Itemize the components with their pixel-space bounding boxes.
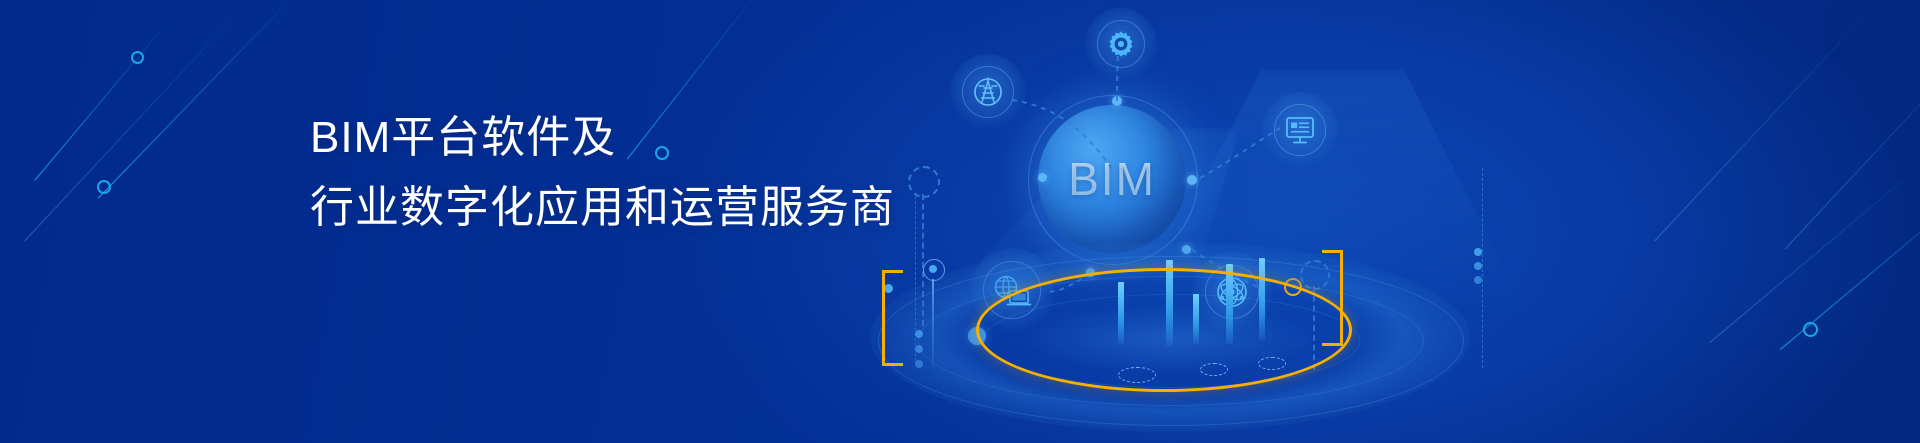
icon-bubble-gear[interactable] [1085,8,1157,80]
decor-diagonal-line-3 [24,0,250,241]
icon-bubble-power-tower[interactable] [950,54,1026,130]
bim-illustration: BIM [860,0,1920,443]
icon-bubble-monitor[interactable] [1262,92,1338,168]
sphere-node-upper-left [1038,173,1047,182]
radar-base [860,232,1480,442]
decor-circle-2 [97,180,111,194]
decor-circle-1 [131,51,144,64]
headline-line-1: BIM平台软件及 [310,116,895,160]
radar-dashed-marker [1200,363,1228,376]
vertical-dashed-guide-right [1482,168,1483,368]
hero-headline: BIM平台软件及 行业数字化应用和运营服务商 [310,116,895,230]
headline-line-2: 行业数字化应用和运营服务商 [310,186,895,230]
radar-dashed-marker [1118,367,1156,383]
bim-hero-banner: BIM平台软件及 行业数字化应用和运营服务商 BIM [0,0,1920,443]
radar-yellow-ring [976,268,1352,392]
radar-dashed-marker [1258,357,1286,370]
sphere-node-top [1112,96,1122,106]
monitor-icon [1282,113,1318,147]
gear-icon [1105,28,1137,60]
sphere-node-right [1187,175,1197,185]
bracket-right [1322,250,1343,346]
dashed-marker-left [908,166,940,198]
power-tower-icon [971,75,1005,109]
bim-sphere-label: BIM [1038,105,1186,253]
bracket-left [882,270,903,366]
decor-diagonal-line-2 [98,0,300,199]
